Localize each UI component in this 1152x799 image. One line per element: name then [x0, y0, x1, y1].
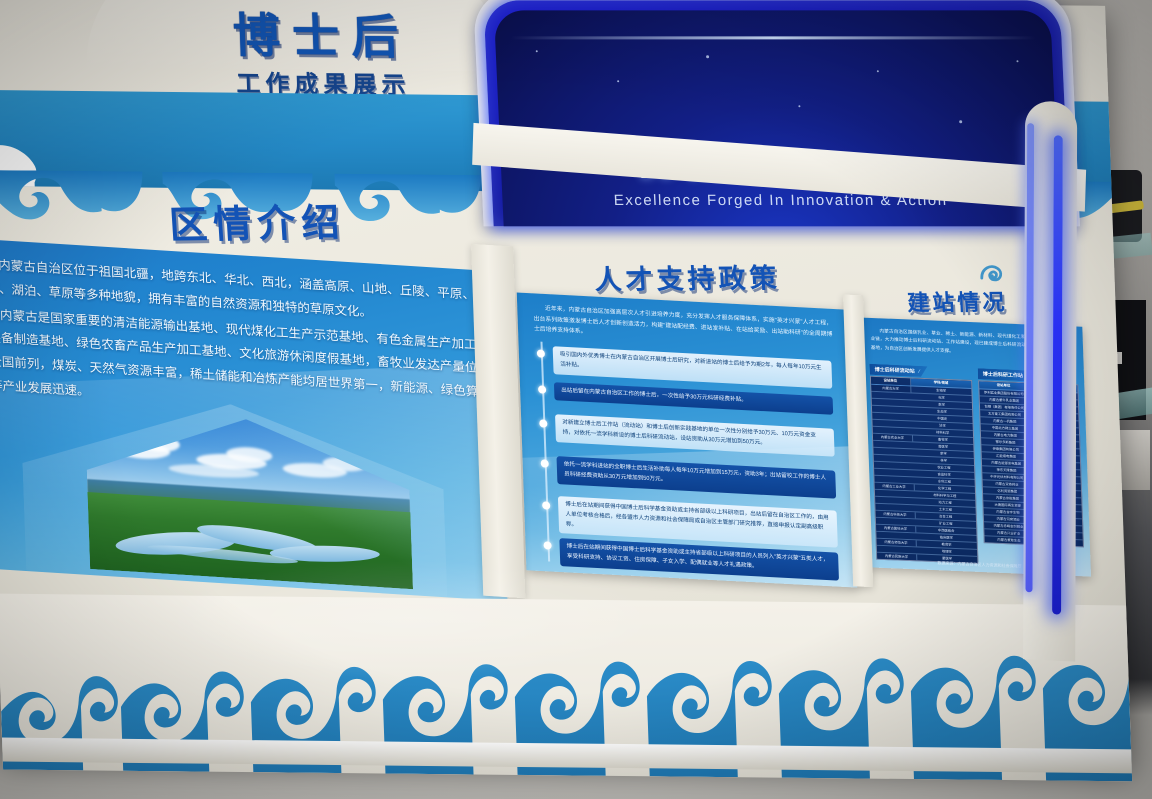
- table-postdoc-mobile-stations: 设站单位学科/领域内蒙古大学生物学化学数学生态学中国史法学材料科学内蒙古农业大学…: [870, 376, 979, 564]
- policy-timeline-dot: [542, 501, 550, 509]
- panel-region-intro: 内蒙古自治区位于祖国北疆，地跨东北、华北、西北，涵盖高原、山地、丘陵、平原、沙漠…: [0, 237, 508, 601]
- subhead-mobile-station-label: 博士后科研流动站: [875, 367, 915, 375]
- led-edge-strip-inner: [1052, 135, 1063, 615]
- policy-item: 吸引国内外优秀博士在内蒙古自治区开展博士后研究，对新进站的博士后给予为期2年，每…: [553, 346, 833, 388]
- table-cell: [873, 430, 913, 432]
- board-title-main: 博士后: [191, 10, 453, 62]
- policy-item: 出站后留在内蒙古自治区工作的博士后，一次性给予30万元科研经费补贴。: [554, 382, 833, 414]
- table-cell: [874, 465, 914, 467]
- table-cell: [872, 402, 912, 404]
- policy-timeline-dot: [537, 349, 545, 357]
- table-cell: [876, 535, 916, 537]
- policy-timeline-dot: [538, 385, 546, 393]
- panel-talent-policy: 近年来，内蒙古自治区加强高层次人才引进培养力度，充分发挥人才服务保障体系，实施"…: [517, 292, 858, 587]
- policy-timeline-dot: [541, 459, 549, 467]
- table-cell: [875, 507, 915, 509]
- section-title-policy: 人才支持政策: [593, 256, 781, 297]
- subhead-work-station-label: 博士后科研工作站: [983, 371, 1023, 379]
- table-cell: [873, 444, 913, 446]
- table-cell: [875, 493, 915, 495]
- table-cell: [872, 395, 912, 397]
- table-cell: [875, 500, 915, 502]
- policy-timeline-dot: [543, 541, 551, 549]
- policy-timeline-dot: [539, 419, 547, 427]
- board-title: 博士后 工作成果展示: [191, 10, 454, 101]
- table-cell: [874, 479, 914, 481]
- table-cell: [874, 472, 914, 474]
- table-cell: [872, 416, 912, 418]
- led-arch-banner: BO SHI HOU TUANDUI Excellence Forged In …: [473, 0, 1080, 226]
- table-cell: [873, 423, 913, 425]
- policy-intro-text: 近年来，内蒙古自治区加强高层次人才引进培养力度，充分发挥人才服务保障体系，实施"…: [533, 303, 833, 351]
- cloud-spiral-logo-icon: [978, 260, 1005, 286]
- display-wall: 博士后 工作成果展示: [0, 0, 1135, 795]
- section-title-region: 区情介绍: [167, 191, 346, 249]
- section-title-station: 建站情况: [906, 285, 1008, 318]
- table-cell: [872, 409, 912, 411]
- table-cell: [877, 549, 917, 551]
- region-intro-text: 内蒙古自治区位于祖国北疆，地跨东北、华北、西北，涵盖高原、山地、丘陵、平原、沙漠…: [0, 253, 480, 431]
- table-cell: [874, 458, 914, 460]
- exhibition-photo: 博士后 工作成果展示: [0, 0, 1152, 799]
- table-cell: [876, 521, 916, 523]
- policy-item: 对新建立博士后工作站（流动站）和博士后创新实践基地的单位一次性分别给予30万元、…: [555, 414, 835, 456]
- table-cell: [873, 451, 913, 453]
